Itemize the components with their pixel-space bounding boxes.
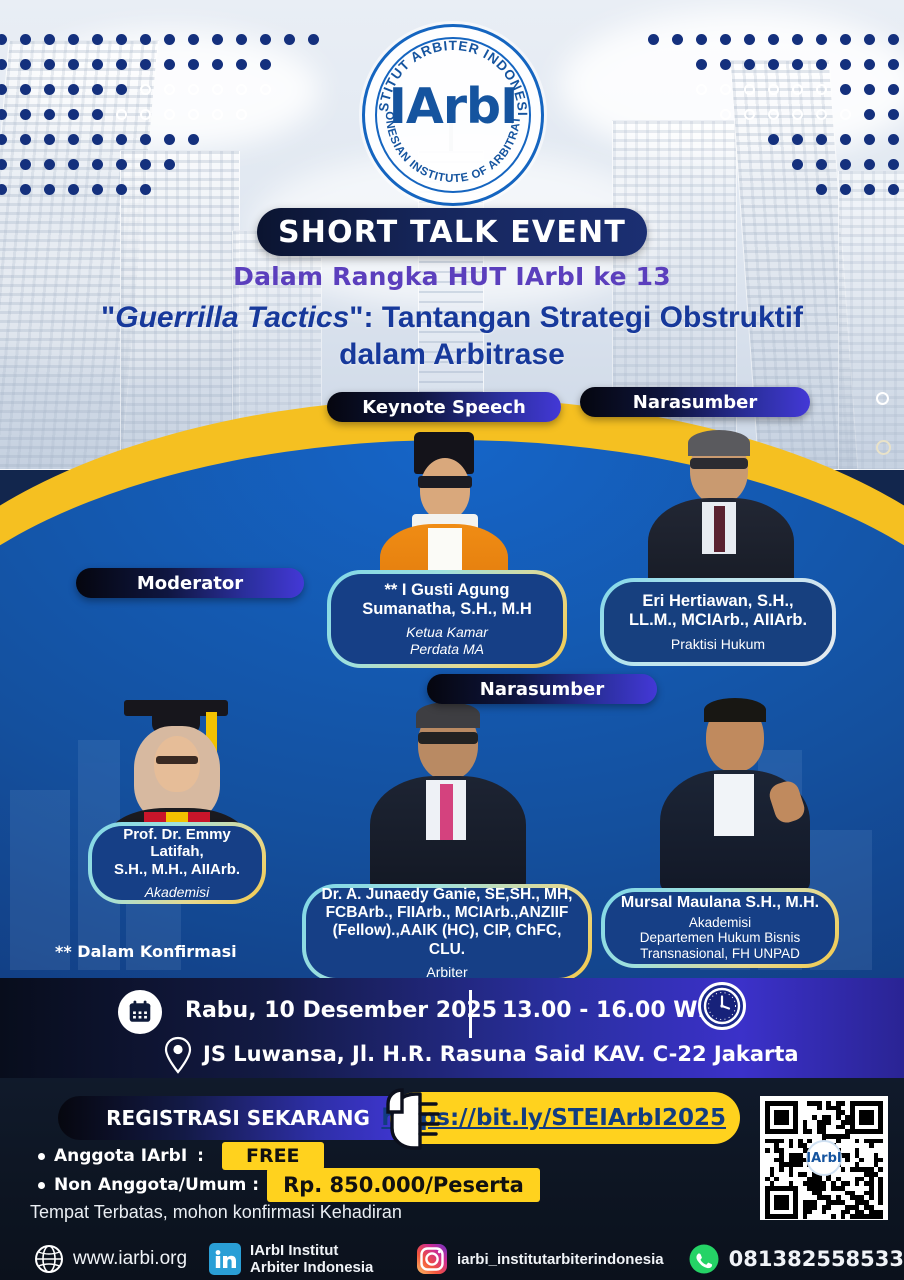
dot — [0, 59, 7, 70]
footer-instagram[interactable]: iarbi_institutarbiterindonesia — [416, 1243, 664, 1275]
limited-seats-note: Tempat Terbatas, mohon konfirmasi Kehadi… — [30, 1202, 402, 1223]
dot — [696, 59, 707, 70]
dot — [672, 109, 683, 120]
qr-module — [822, 1210, 827, 1215]
qr-module — [855, 1139, 860, 1144]
dot — [164, 34, 175, 45]
dot — [648, 159, 659, 170]
speaker-name-line1: Dr. A. Junaedy Ganie, SE,SH., MH, — [322, 886, 573, 903]
dot — [864, 84, 875, 95]
dot — [840, 59, 851, 70]
dot — [696, 34, 707, 45]
dot — [888, 34, 899, 45]
qr-module — [779, 1139, 784, 1144]
qr-module — [784, 1205, 789, 1210]
dot — [648, 134, 659, 145]
dot — [188, 134, 199, 145]
logo-center-text: IArbI — [362, 82, 544, 131]
speaker-name: Prof. Dr. Emmy Latifah, S.H., M.H., AIIA… — [104, 826, 250, 879]
dot — [816, 34, 827, 45]
photo-junaedy-ganie — [368, 700, 528, 890]
dot — [284, 134, 295, 145]
dot — [672, 34, 683, 45]
badge-keynote-speech: Keynote Speech — [327, 392, 561, 422]
dot — [308, 159, 319, 170]
speaker-card-eri: Eri Hertiawan, S.H., LL.M., MCIArb., AII… — [600, 578, 836, 666]
dot — [68, 184, 79, 195]
qr-module — [784, 1120, 789, 1125]
dot — [20, 59, 31, 70]
dot — [116, 159, 127, 170]
qr-module — [878, 1214, 883, 1219]
dot — [20, 84, 31, 95]
dot — [840, 159, 851, 170]
dot — [864, 34, 875, 45]
bullet-icon — [38, 1153, 45, 1160]
instagram-icon — [416, 1243, 448, 1275]
clock-icon — [698, 982, 746, 1030]
footer-contacts: www.iarbi.org IArbI Institut Arbiter Ind… — [0, 1238, 904, 1280]
dot — [744, 109, 755, 120]
dot — [284, 159, 295, 170]
page-title: "Guerrilla Tactics": Tantangan Strategi … — [52, 300, 852, 374]
dot — [672, 184, 683, 195]
dot — [744, 184, 755, 195]
badge-moderator-label: Moderator — [137, 573, 243, 594]
dot — [44, 109, 55, 120]
dot — [260, 59, 271, 70]
dot — [164, 59, 175, 70]
dot — [260, 34, 271, 45]
dot — [648, 109, 659, 120]
dot — [720, 59, 731, 70]
dot — [648, 184, 659, 195]
member-price-badge: FREE — [222, 1142, 324, 1170]
dot — [284, 109, 295, 120]
dot — [188, 84, 199, 95]
globe-icon — [34, 1244, 64, 1274]
dot — [720, 184, 731, 195]
footer-website[interactable]: www.iarbi.org — [34, 1244, 187, 1274]
title-line2: dalam Arbitrase — [339, 338, 565, 371]
qr-module — [793, 1129, 798, 1134]
qr-module — [831, 1214, 836, 1219]
qr-center-logo: IArbI — [806, 1140, 842, 1176]
event-type-badge: SHORT TALK EVENT — [257, 208, 647, 256]
badge-narasumber-bottom-label: Narasumber — [480, 679, 605, 700]
dot — [744, 59, 755, 70]
confirmation-note: ** Dalam Konfirmasi — [55, 942, 237, 961]
dot — [792, 109, 803, 120]
price-row-nonmember: Non Anggota/Umum : Rp. 850.000/Peserta — [38, 1168, 540, 1202]
dot — [284, 59, 295, 70]
event-type-label: SHORT TALK EVENT — [278, 215, 626, 250]
qr-module — [836, 1139, 841, 1144]
dot — [188, 59, 199, 70]
dot — [0, 84, 7, 95]
map-pin-icon — [162, 1036, 194, 1074]
qr-module — [822, 1186, 827, 1191]
dot — [284, 184, 295, 195]
dot — [888, 84, 899, 95]
dot — [720, 134, 731, 145]
calendar-icon — [118, 990, 162, 1034]
dot — [864, 184, 875, 195]
dot — [672, 134, 683, 145]
dot — [92, 184, 103, 195]
dot — [0, 134, 7, 145]
dot — [68, 34, 79, 45]
speaker-name: Dr. A. Junaedy Ganie, SE,SH., MH, FCBArb… — [318, 886, 576, 959]
dot — [308, 184, 319, 195]
dot — [284, 34, 295, 45]
qr-module — [845, 1120, 850, 1125]
speaker-role-line1: Ketua Kamar — [406, 624, 488, 640]
dot — [816, 134, 827, 145]
qr-module — [765, 1148, 770, 1153]
dot — [792, 134, 803, 145]
qr-module — [812, 1205, 817, 1210]
price-row-member: Anggota IArbI : FREE — [38, 1142, 324, 1170]
badge-moderator: Moderator — [76, 568, 304, 598]
dot — [140, 59, 151, 70]
iarbi-logo: INSTITUT ARBITER INDONESIA INDONESIAN IN… — [362, 24, 544, 206]
dot — [768, 84, 779, 95]
dot — [768, 184, 779, 195]
website-text: www.iarbi.org — [73, 1248, 187, 1270]
dot — [212, 159, 223, 170]
linkedin-icon — [209, 1243, 241, 1275]
dot — [768, 134, 779, 145]
dot — [0, 34, 7, 45]
dot — [140, 84, 151, 95]
dot — [188, 184, 199, 195]
dot — [20, 134, 31, 145]
dot — [212, 109, 223, 120]
dot — [92, 134, 103, 145]
dot — [116, 59, 127, 70]
dot — [116, 184, 127, 195]
speaker-name: Eri Hertiawan, S.H., LL.M., MCIArb., AII… — [629, 592, 807, 631]
qr-module — [878, 1200, 883, 1205]
dot — [816, 109, 827, 120]
qr-module — [817, 1106, 822, 1111]
dot — [308, 34, 319, 45]
dot — [864, 159, 875, 170]
speaker-role: Praktisi Hukum — [671, 636, 765, 653]
pointing-hand-icon — [372, 1082, 442, 1154]
dot — [284, 84, 295, 95]
dot — [68, 59, 79, 70]
dot — [840, 134, 851, 145]
dot — [92, 34, 103, 45]
speaker-name-line3: (Fellow).,AAIK (HC), CIP, ChFC, CLU. — [333, 922, 562, 957]
dot — [164, 134, 175, 145]
dot — [116, 134, 127, 145]
qr-module — [807, 1210, 812, 1215]
dot — [164, 84, 175, 95]
dot — [696, 84, 707, 95]
qr-module — [878, 1167, 883, 1172]
event-time: 13.00 - 16.00 WIB — [502, 998, 723, 1023]
qr-module — [826, 1205, 831, 1210]
dot — [744, 159, 755, 170]
qr-module — [845, 1181, 850, 1186]
badge-narasumber-top: Narasumber — [580, 387, 810, 417]
dot — [840, 109, 851, 120]
dot — [92, 84, 103, 95]
qr-module — [869, 1195, 874, 1200]
dot — [236, 59, 247, 70]
dot — [260, 109, 271, 120]
dot — [672, 59, 683, 70]
member-colon: : — [197, 1146, 204, 1166]
dot — [68, 159, 79, 170]
qr-module — [869, 1120, 874, 1125]
qr-module — [789, 1172, 794, 1177]
instagram-text: iarbi_institutarbiterindonesia — [457, 1251, 664, 1268]
speaker-role-line1: Akademisi — [689, 915, 751, 930]
dot — [720, 159, 731, 170]
dot — [888, 184, 899, 195]
qr-module — [841, 1214, 846, 1219]
dot — [20, 184, 31, 195]
qr-module — [878, 1139, 883, 1144]
speaker-role-line2: Departemen Hukum Bisnis — [640, 930, 801, 945]
speaker-role-line2: Perdata MA — [410, 641, 484, 657]
qr-module — [793, 1214, 798, 1219]
speaker-role-line3: Transnasional, FH UNPAD — [640, 946, 800, 961]
dot — [720, 109, 731, 120]
dot — [236, 109, 247, 120]
dot — [864, 59, 875, 70]
dot — [44, 134, 55, 145]
dot — [864, 109, 875, 120]
dot — [212, 84, 223, 95]
qr-module — [845, 1158, 850, 1163]
member-label: Anggota IArbI — [54, 1146, 187, 1166]
dot — [864, 134, 875, 145]
dot — [20, 159, 31, 170]
dot — [44, 184, 55, 195]
dot — [696, 184, 707, 195]
speaker-name-line2: FCBArb., FIIArb., MCIArb.,ANZIIF — [326, 904, 569, 921]
dot — [260, 84, 271, 95]
dot — [236, 184, 247, 195]
event-subtitle: Dalam Rangka HUT IArbI ke 13 — [0, 262, 904, 291]
speaker-name: Mursal Maulana S.H., M.H. — [621, 894, 819, 913]
ring-decor-1 — [876, 392, 889, 405]
speaker-role: Ketua Kamar Perdata MA — [406, 624, 488, 657]
dot — [840, 84, 851, 95]
event-location: JS Luwansa, Jl. H.R. Rasuna Said KAV. C-… — [203, 1042, 799, 1066]
nonmember-price-badge: Rp. 850.000/Peserta — [267, 1168, 540, 1202]
dot — [236, 159, 247, 170]
dot — [720, 34, 731, 45]
dot — [140, 134, 151, 145]
dot — [236, 84, 247, 95]
speaker-role: Akademisi Departemen Hukum Bisnis Transn… — [640, 915, 801, 963]
registration-cta-label: REGISTRASI SEKARANG — [106, 1106, 370, 1130]
qr-module — [807, 1129, 812, 1134]
dot — [888, 59, 899, 70]
dot — [164, 159, 175, 170]
dot-pattern-left — [0, 34, 332, 195]
dot — [768, 34, 779, 45]
nonmember-label: Non Anggota/Umum : — [54, 1175, 259, 1195]
qr-module — [826, 1120, 831, 1125]
speaker-name: ** I Gusti Agung Sumanatha, S.H., M.H — [362, 581, 532, 620]
speaker-card-emmy: Prof. Dr. Emmy Latifah, S.H., M.H., AIIA… — [88, 822, 266, 904]
dot — [792, 84, 803, 95]
dot — [236, 134, 247, 145]
dot — [188, 159, 199, 170]
qr-module — [770, 1181, 775, 1186]
badge-narasumber-top-label: Narasumber — [633, 392, 758, 413]
dot — [188, 34, 199, 45]
dot — [44, 159, 55, 170]
dot — [116, 109, 127, 120]
speaker-card-junaedy: Dr. A. Junaedy Ganie, SE,SH., MH, FCBArb… — [302, 884, 592, 982]
speaker-name-line2: Sumanatha, S.H., M.H — [362, 600, 532, 618]
dot — [92, 109, 103, 120]
dot — [44, 84, 55, 95]
whatsapp-text: 081382558533 — [729, 1247, 904, 1271]
registration-link-button[interactable]: https://bit.ly/STEIArbI2025 — [390, 1092, 740, 1144]
whatsapp-icon — [688, 1243, 720, 1275]
dot — [744, 134, 755, 145]
dot — [792, 59, 803, 70]
dot-pattern-right — [648, 34, 904, 195]
speaker-name-line2: LL.M., MCIArb., AIIArb. — [629, 611, 807, 629]
dot — [308, 134, 319, 145]
dot — [792, 184, 803, 195]
dot — [720, 84, 731, 95]
dot — [164, 184, 175, 195]
dot — [792, 159, 803, 170]
dot — [648, 34, 659, 45]
dot — [888, 159, 899, 170]
title-quote-open: " — [101, 301, 115, 334]
dot — [140, 34, 151, 45]
qr-code[interactable]: IArbI — [760, 1096, 888, 1220]
dot — [768, 109, 779, 120]
dot — [696, 134, 707, 145]
dot — [212, 59, 223, 70]
dot — [140, 159, 151, 170]
dot — [816, 59, 827, 70]
dot — [212, 134, 223, 145]
qr-module — [878, 1129, 883, 1134]
speaker-name-line1: ** I Gusti Agung — [385, 581, 510, 599]
dot — [840, 34, 851, 45]
speaker-name-line1: Eri Hertiawan, S.H., — [642, 592, 793, 610]
dot — [672, 159, 683, 170]
dot — [840, 184, 851, 195]
info-divider — [469, 990, 472, 1038]
qr-module — [789, 1143, 794, 1148]
qr-module — [774, 1177, 779, 1182]
dot — [140, 184, 151, 195]
dot — [308, 84, 319, 95]
qr-module — [869, 1143, 874, 1148]
qr-module — [878, 1158, 883, 1163]
qr-module — [807, 1139, 812, 1144]
dot — [648, 84, 659, 95]
dot — [744, 84, 755, 95]
title-italic-part: Guerrilla Tactics — [115, 301, 349, 334]
dot — [260, 159, 271, 170]
dot — [164, 109, 175, 120]
dot — [696, 159, 707, 170]
speaker-name-line1: Prof. Dr. Emmy Latifah, — [123, 826, 231, 861]
qr-module — [841, 1167, 846, 1172]
footer-whatsapp[interactable]: 081382558533 — [688, 1243, 904, 1275]
dot — [648, 59, 659, 70]
dot — [260, 184, 271, 195]
dot — [0, 109, 7, 120]
dot — [816, 84, 827, 95]
dot — [888, 109, 899, 120]
photo-mursal-maulana — [660, 698, 810, 890]
event-poster: INSTITUT ARBITER INDONESIA INDONESIAN IN… — [0, 0, 904, 1280]
dot — [44, 59, 55, 70]
dot — [744, 34, 755, 45]
qr-module — [859, 1158, 864, 1163]
dot — [792, 34, 803, 45]
dot — [816, 184, 827, 195]
dot — [44, 34, 55, 45]
photo-keynote-speaker — [368, 432, 520, 592]
dot — [0, 184, 7, 195]
photo-eri-hertiawan — [642, 428, 798, 598]
dot — [140, 109, 151, 120]
footer-linkedin[interactable]: IArbI Institut Arbiter Indonesia — [209, 1242, 390, 1276]
dot — [236, 34, 247, 45]
qr-module — [779, 1167, 784, 1172]
speaker-role: Akademisi — [145, 884, 210, 901]
title-rest: ": Tantangan Strategi Obstruktif — [349, 301, 803, 334]
dot — [212, 34, 223, 45]
dot — [308, 59, 319, 70]
event-date: Rabu, 10 Desember 2025 — [185, 998, 497, 1023]
dot — [20, 34, 31, 45]
speaker-name-line2: S.H., M.H., AIIArb. — [114, 861, 240, 878]
dot — [816, 159, 827, 170]
dot — [68, 109, 79, 120]
badge-keynote-label: Keynote Speech — [362, 397, 526, 418]
dot — [308, 109, 319, 120]
dot — [888, 134, 899, 145]
badge-narasumber-bottom: Narasumber — [427, 674, 657, 704]
dot — [116, 34, 127, 45]
qr-module — [841, 1101, 846, 1106]
speaker-card-mursal: Mursal Maulana S.H., M.H. Akademisi Depa… — [601, 888, 839, 968]
qr-module — [855, 1181, 860, 1186]
bullet-icon — [38, 1182, 45, 1189]
dot — [696, 109, 707, 120]
dot — [92, 59, 103, 70]
linkedin-text: IArbI Institut Arbiter Indonesia — [250, 1242, 390, 1276]
qr-module — [845, 1134, 850, 1139]
registration-cta[interactable]: REGISTRASI SEKARANG — [58, 1096, 418, 1140]
dot — [0, 159, 7, 170]
dot — [212, 184, 223, 195]
dot — [20, 109, 31, 120]
dot — [92, 159, 103, 170]
qr-module — [798, 1162, 803, 1167]
dot — [116, 84, 127, 95]
